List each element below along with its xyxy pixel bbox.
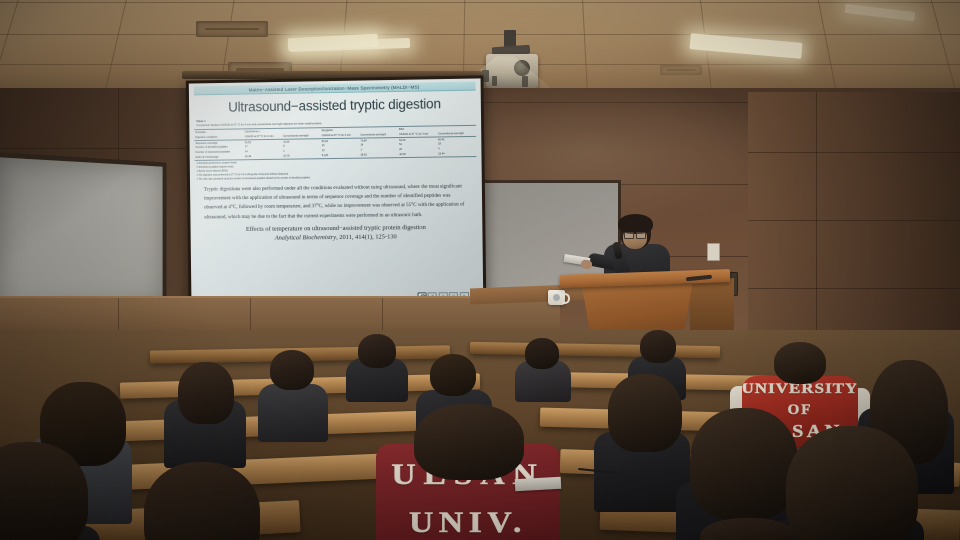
hair: [690, 408, 798, 520]
head: [358, 334, 396, 368]
hair: [786, 426, 918, 540]
audience-seating-area: UNIVERSITY OF ULSAN: [0, 330, 960, 540]
hair: [414, 404, 524, 480]
presentation-slide: Matrix−Assisted Laser Desorption/Ionizat…: [189, 78, 483, 304]
head: [525, 338, 559, 369]
results-table: Substrate Cytochrome c Myoglobin BSA Dig…: [194, 125, 476, 160]
head: [430, 354, 476, 396]
projection-screen: Matrix−Assisted Laser Desorption/Ionizat…: [186, 75, 487, 307]
ceiling-vent-left: [196, 21, 268, 37]
head: [640, 330, 676, 363]
citation-journal: Analytical Biochemistry: [275, 234, 336, 242]
ceiling-vent-right: [660, 65, 702, 75]
slide-citation: Effects of temperature on ultrasound−ass…: [195, 219, 477, 243]
left-whiteboard: [0, 152, 166, 320]
presenter-glasses: [624, 232, 646, 237]
right-wall: [748, 92, 960, 342]
citation-rest: , 2011, 414(1), 125-130: [336, 233, 397, 241]
notebook-on-bench: [515, 477, 562, 491]
wall-outlet: [707, 243, 720, 261]
head: [270, 350, 314, 390]
slide-paragraph: Tryptic digestions were also performed u…: [195, 179, 477, 223]
lecture-hall-photo: Matrix−Assisted Laser Desorption/Ionizat…: [0, 0, 960, 540]
projector-lens: [514, 60, 530, 76]
bench-row-1b: [470, 342, 720, 358]
table-label-text: Table 1: [196, 119, 206, 123]
jacket-line-2: UNIV.: [376, 506, 560, 540]
torso: [258, 384, 328, 442]
head: [774, 342, 826, 384]
hair: [608, 374, 682, 452]
citation-line: Analytical Biochemistry, 2011, 414(1), 1…: [196, 231, 478, 243]
mug-logo-icon: [553, 294, 560, 301]
ceiling-projector: [478, 30, 544, 92]
hair: [178, 362, 234, 424]
presenter-hair: [618, 214, 653, 234]
